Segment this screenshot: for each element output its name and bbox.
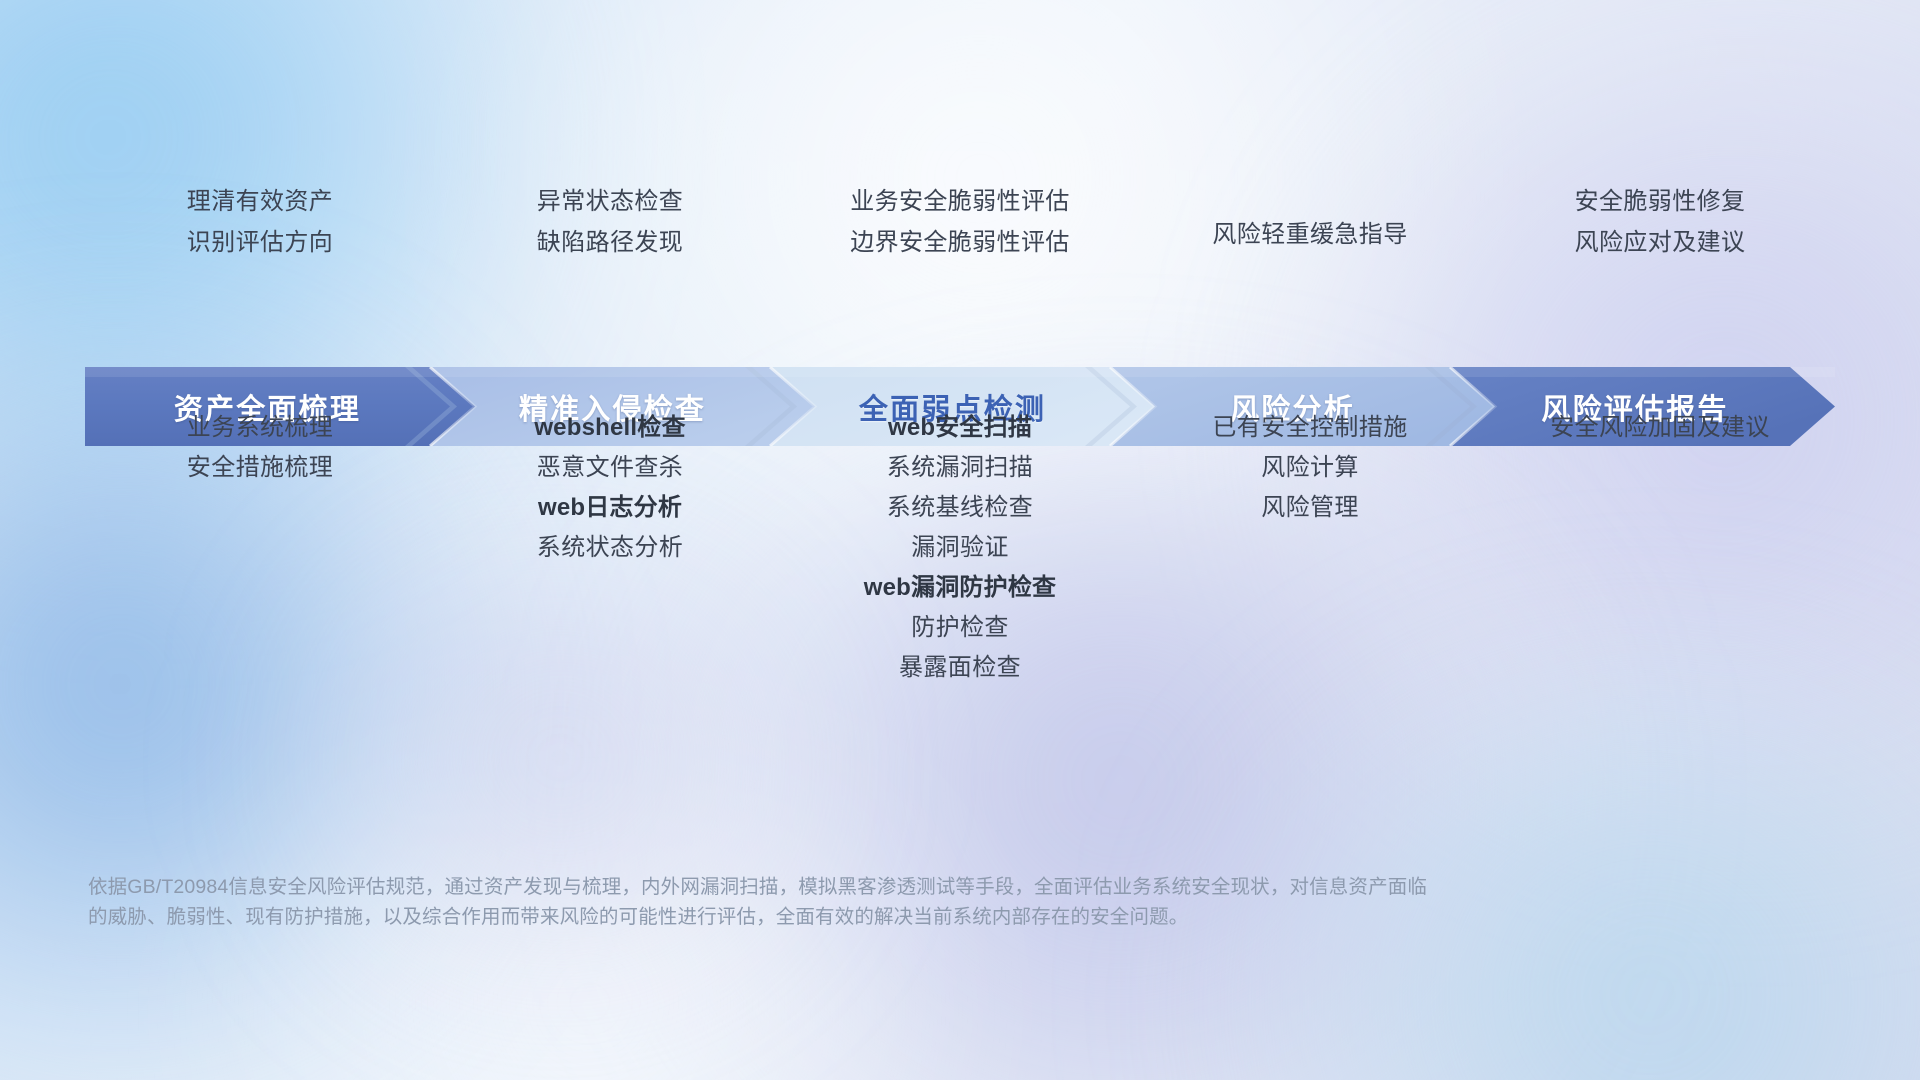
bottom-label-item: 系统漏洞扫描 xyxy=(887,452,1033,483)
bottom-label-item: webshell检查 xyxy=(534,412,685,443)
bottom-labels-intrusion-check: webshell检查 恶意文件查杀 web日志分析 系统状态分析 xyxy=(435,412,785,683)
process-diagram: 理清有效资产 识别评估方向 异常状态检查 缺陷路径发现 业务安全脆弱性评估 边界… xyxy=(0,0,1920,1080)
top-label-item: 识别评估方向 xyxy=(187,227,333,258)
bottom-label-item: 系统基线检查 xyxy=(887,492,1033,523)
bottom-label-item: 恶意文件查杀 xyxy=(537,452,683,483)
top-label-item: 业务安全脆弱性评估 xyxy=(850,186,1070,217)
top-label-item: 异常状态检查 xyxy=(537,186,683,217)
top-label-item: 理清有效资产 xyxy=(187,186,333,217)
bottom-labels-weakness-detection: web安全扫描 系统漏洞扫描 系统基线检查 漏洞验证 web漏洞防护检查 防护检… xyxy=(785,412,1135,683)
top-labels-risk-report: 安全脆弱性修复 风险应对及建议 xyxy=(1485,186,1835,258)
bottom-label-item: 安全风险加固及建议 xyxy=(1550,412,1770,443)
bottom-labels-asset-inventory: 业务系统梳理 安全措施梳理 xyxy=(85,412,435,683)
bottom-labels-risk-report: 安全风险加固及建议 xyxy=(1485,412,1835,683)
top-label-item: 缺陷路径发现 xyxy=(537,227,683,258)
bottom-label-item: 安全措施梳理 xyxy=(187,452,333,483)
top-label-item: 安全脆弱性修复 xyxy=(1575,186,1746,217)
top-labels-asset-inventory: 理清有效资产 识别评估方向 xyxy=(85,186,435,258)
bottom-label-item: 风险管理 xyxy=(1261,492,1359,523)
footer-description: 依据GB/T20984信息安全风险评估规范，通过资产发现与梳理，内外网漏洞扫描，… xyxy=(88,872,1428,932)
bottom-label-item: 系统状态分析 xyxy=(537,532,683,563)
bottom-label-item: 防护检查 xyxy=(911,612,1009,643)
chevron-top-sheen xyxy=(85,367,1835,377)
top-label-item: 边界安全脆弱性评估 xyxy=(850,227,1070,258)
bottom-label-item: web日志分析 xyxy=(538,492,682,523)
bottom-label-row: 业务系统梳理 安全措施梳理 webshell检查 恶意文件查杀 web日志分析 … xyxy=(85,412,1835,683)
bottom-label-item: 漏洞验证 xyxy=(911,532,1009,563)
bottom-labels-risk-analysis: 已有安全控制措施 风险计算 风险管理 xyxy=(1135,412,1485,683)
bottom-label-item: 暴露面检查 xyxy=(899,652,1021,683)
bottom-label-item: 已有安全控制措施 xyxy=(1212,412,1407,443)
bottom-label-item: web漏洞防护检查 xyxy=(864,572,1056,603)
bottom-label-item: 业务系统梳理 xyxy=(187,412,333,443)
top-label-row: 理清有效资产 识别评估方向 异常状态检查 缺陷路径发现 业务安全脆弱性评估 边界… xyxy=(85,186,1835,258)
bottom-label-item: 风险计算 xyxy=(1261,452,1359,483)
top-labels-weakness-detection: 业务安全脆弱性评估 边界安全脆弱性评估 xyxy=(785,186,1135,258)
top-labels-risk-analysis: 风险轻重缓急指导 xyxy=(1135,186,1485,258)
top-label-item: 风险应对及建议 xyxy=(1575,227,1746,258)
top-label-item: 风险轻重缓急指导 xyxy=(1212,219,1407,250)
bottom-label-item: web安全扫描 xyxy=(888,412,1032,443)
top-labels-intrusion-check: 异常状态检查 缺陷路径发现 xyxy=(435,186,785,258)
